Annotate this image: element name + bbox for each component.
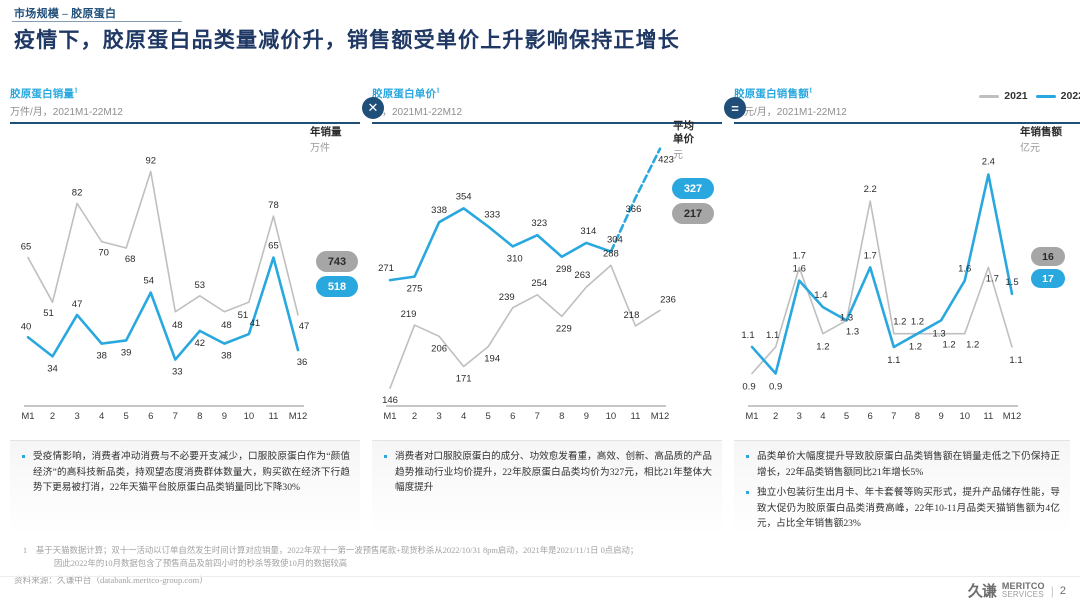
footnote-text: 基于天猫数据计算；双十一活动以订单自然发生时间计算对应销量，2022年双十一第一… — [36, 545, 974, 558]
data-label: 275 — [407, 284, 423, 295]
x-axis-tick-label: 9 — [584, 411, 589, 422]
x-axis-tick-label: 10 — [244, 411, 255, 422]
data-label: 236 — [660, 294, 676, 305]
x-axis-tick-label: 4 — [461, 411, 466, 422]
avg-2022-badge: 327 — [672, 178, 714, 199]
x-axis-tick-label: 4 — [820, 411, 825, 422]
data-label: 1.1 — [766, 330, 779, 341]
data-label: 194 — [484, 354, 500, 365]
x-axis-tick-label: 11 — [983, 411, 993, 422]
data-label: 1.2 — [911, 317, 924, 328]
footnote-text-continued: 因此2022年的10月数据包含了预售商品及前四小时的秒杀等致使10月的数据较高 — [14, 558, 974, 571]
data-label: 1.7 — [793, 250, 806, 261]
panel-title-text: 胶原蛋白销售额 — [734, 89, 809, 100]
data-label: 254 — [531, 278, 547, 289]
data-label: 298 — [556, 264, 572, 275]
data-label: 1.3 — [932, 328, 945, 339]
data-label: 1.2 — [942, 340, 955, 351]
line-chart-svg: 1462192061711942392542292632882182362712… — [372, 116, 722, 416]
data-label: 36 — [297, 357, 308, 368]
legend-label-2022: 2022 — [1061, 90, 1080, 102]
data-label: 0.9 — [742, 381, 755, 392]
panel-title: 胶原蛋白销量1 — [10, 86, 360, 101]
total-2021-badge: 16 — [1031, 247, 1065, 266]
data-label: 1.2 — [816, 342, 829, 353]
x-axis-tick-label: 7 — [891, 411, 896, 422]
list-item: 品类单价大幅度提升导致胶原蛋白品类销售额在销量走低之下仍保持正增长，22年品类销… — [746, 449, 1060, 480]
footer-divider — [0, 576, 1080, 577]
data-label: 51 — [43, 308, 54, 319]
footnote-ref: 1 — [74, 87, 78, 95]
panel-sales-volume: 胶原蛋白销量1 万件/月，2021M1-22M12 65518270689248… — [10, 86, 360, 426]
brand-tagline: SERVICES — [1002, 591, 1045, 599]
footnote-ref: 1 — [809, 87, 813, 95]
panel-sales-value: 胶原蛋白销售额1 亿元/月，2021M1-22M12 2021 2022 0.9… — [734, 86, 1080, 426]
footer-brand: 久谦 MERITCO SERVICES | 2 — [968, 580, 1066, 601]
breadcrumb: 市场规模 – 胶原蛋白 — [14, 5, 116, 21]
summary-caption-unit: 万件 — [310, 139, 342, 154]
x-axis-tick-label: 2 — [773, 411, 778, 422]
x-axis-tick-label: 8 — [559, 411, 564, 422]
data-label: 38 — [221, 351, 232, 362]
x-axis-tick-label: 9 — [938, 411, 943, 422]
data-label: 82 — [72, 187, 83, 198]
data-label: 1.2 — [909, 342, 922, 353]
data-label: 314 — [580, 226, 596, 237]
x-axis-tick-label: 10 — [606, 411, 617, 422]
data-label: 2.4 — [982, 157, 995, 168]
x-axis-tick-label: M1 — [21, 411, 34, 422]
notes-sales-volume: 受疫情影响，消费者冲动消费与不必要开支减少，口服胶原蛋白作为“颜值经济”的高科技… — [10, 440, 360, 535]
summary-caption-unit: 元 — [673, 146, 694, 161]
data-label: 218 — [624, 310, 640, 321]
data-label: 47 — [299, 321, 310, 332]
data-label: 65 — [268, 241, 279, 252]
data-label: 51 — [238, 310, 249, 321]
brand-wordmark: MERITCO SERVICES — [1002, 582, 1045, 599]
summary-caption-title: 年销量 — [310, 126, 342, 139]
legend-item-2021: 2021 — [979, 90, 1027, 102]
x-axis-tick-label: 5 — [124, 411, 129, 422]
total-2021-badge: 743 — [316, 251, 358, 272]
x-axis-tick-label: 11 — [269, 411, 279, 422]
summary-caption: 平均 单价 元 — [673, 120, 694, 161]
legend-item-2022: 2022 — [1036, 90, 1080, 102]
legend-label-2021: 2021 — [1004, 90, 1027, 102]
multiply-icon: ✕ — [362, 97, 384, 119]
data-label: 54 — [143, 276, 154, 287]
data-label: 1.5 — [1005, 277, 1018, 288]
x-axis-tick-label: 2 — [412, 411, 417, 422]
summary-caption: 年销售额 亿元 — [1020, 126, 1062, 154]
panel-title: 胶原蛋白单价1 — [372, 86, 722, 101]
x-axis-tick-label: 10 — [959, 411, 970, 422]
x-axis-tick-label: 2 — [50, 411, 55, 422]
panel-title-text: 胶原蛋白单价 — [372, 89, 436, 100]
data-label: 1.1 — [741, 330, 754, 341]
data-label: 206 — [431, 343, 447, 354]
panel-title-text: 胶原蛋白销量 — [10, 89, 74, 100]
data-label: 271 — [378, 263, 394, 274]
data-label: 338 — [431, 205, 447, 216]
summary-caption-title2: 单价 — [673, 133, 694, 146]
data-label: 239 — [499, 292, 515, 303]
data-label: 1.1 — [1009, 355, 1022, 366]
chart-legend: 2021 2022 — [979, 90, 1080, 102]
data-label: 68 — [125, 254, 136, 265]
data-label: 333 — [484, 210, 500, 221]
data-label: 1.3 — [840, 312, 853, 323]
data-label: 171 — [456, 374, 472, 385]
data-label: 47 — [72, 299, 83, 310]
x-axis-tick-label: 7 — [173, 411, 178, 422]
data-label: 1.2 — [966, 340, 979, 351]
x-axis-tick-label: M1 — [745, 411, 758, 422]
x-axis-tick-label: 3 — [74, 411, 79, 422]
data-label: 229 — [556, 323, 572, 334]
data-label: 34 — [47, 363, 58, 374]
footer-separator: | — [1051, 584, 1054, 598]
list-item: 受疫情影响，消费者冲动消费与不必要开支减少，口服胶原蛋白作为“颜值经济”的高科技… — [22, 449, 350, 496]
x-axis-tick-label: 3 — [797, 411, 802, 422]
legend-swatch-2021 — [979, 95, 999, 98]
total-2022-badge: 17 — [1031, 269, 1065, 288]
footnote-number: 1 — [14, 545, 36, 558]
data-label: 323 — [531, 218, 547, 229]
slide: 市场规模 – 胶原蛋白 疫情下，胶原蛋白品类量减价升，销售额受单价上升影响保持正… — [0, 0, 1080, 607]
page-title: 疫情下，胶原蛋白品类量减价升，销售额受单价上升影响保持正增长 — [14, 24, 680, 54]
notes-unit-price: 消费者对口服胶原蛋白的成分、功效愈发看重，高效、创新、高品质的产品趋势推动行业均… — [372, 440, 722, 535]
footnotes: 1 基于天猫数据计算；双十一活动以订单自然发生时间计算对应销量，2022年双十一… — [14, 545, 974, 586]
x-axis-tick-label: 6 — [148, 411, 153, 422]
x-axis-tick-label: M12 — [1003, 411, 1021, 422]
data-label: 1.7 — [864, 250, 877, 261]
data-label: 48 — [221, 320, 232, 331]
legend-swatch-2022 — [1036, 95, 1056, 98]
data-label: 354 — [456, 191, 472, 202]
data-label: 2.2 — [864, 184, 877, 195]
data-label: 33 — [172, 367, 183, 378]
page-number: 2 — [1060, 585, 1066, 597]
bullet-list: 消费者对口服胶原蛋白的成分、功效愈发看重，高效、创新、高品质的产品趋势推动行业均… — [372, 441, 722, 496]
data-label: 92 — [145, 156, 156, 167]
footnote-ref: 1 — [436, 87, 440, 95]
data-label: 40 — [21, 321, 32, 332]
data-label: 1.3 — [846, 326, 859, 337]
summary-caption-title: 年销售额 — [1020, 126, 1062, 139]
data-label: 1.6 — [958, 264, 971, 275]
data-label: 53 — [195, 280, 206, 291]
data-label: 310 — [507, 253, 523, 264]
list-item: 独立小包装衍生出月卡、年卡套餐等购买形式，提升产品储存性能，导致大促仍为胶原蛋白… — [746, 485, 1060, 532]
data-label: 423 — [658, 155, 674, 166]
data-label: 39 — [121, 347, 132, 358]
chart-sales-value: 0.91.11.71.21.32.21.21.21.21.21.71.11.10… — [734, 116, 1080, 416]
x-axis-tick-label: 11 — [631, 411, 641, 422]
line-chart-svg: 0.91.11.71.21.32.21.21.21.21.21.71.11.10… — [734, 116, 1070, 416]
x-axis-tick-label: 5 — [486, 411, 491, 422]
x-axis-tick-label: 9 — [222, 411, 227, 422]
data-label: 0.9 — [769, 381, 782, 392]
x-axis-tick-label: M1 — [383, 411, 396, 422]
summary-caption-title: 平均 — [673, 120, 694, 133]
data-label: 1.7 — [986, 273, 999, 284]
summary-caption-unit: 亿元 — [1020, 139, 1062, 154]
x-axis-tick-label: M12 — [651, 411, 669, 422]
data-label: 70 — [98, 248, 109, 259]
notes-sales-value: 品类单价大幅度提升导致胶原蛋白品类销售额在销量走低之下仍保持正增长，22年品类销… — [734, 440, 1070, 535]
data-label: 1.2 — [893, 317, 906, 328]
x-axis-tick-label: M12 — [289, 411, 307, 422]
data-label: 41 — [250, 318, 261, 329]
x-axis-tick-label: 8 — [197, 411, 202, 422]
data-label: 38 — [96, 351, 107, 362]
line-chart-svg: 6551827068924853485178474034473839543342… — [10, 116, 360, 416]
total-2022-badge: 518 — [316, 276, 358, 297]
panel-unit-price: 胶原蛋白单价1 元，2021M1-22M12 14621920617119423… — [372, 86, 722, 426]
data-label: 288 — [603, 248, 619, 259]
x-axis-tick-label: 5 — [844, 411, 849, 422]
x-axis-tick-label: 8 — [915, 411, 920, 422]
data-label: 1.6 — [793, 264, 806, 275]
data-label: 263 — [574, 270, 590, 281]
footnote-row: 1 基于天猫数据计算；双十一活动以订单自然发生时间计算对应销量，2022年双十一… — [14, 545, 974, 558]
brand-logo-cjk: 久谦 — [968, 580, 996, 601]
x-axis-tick-label: 4 — [99, 411, 104, 422]
list-item: 消费者对口服胶原蛋白的成分、功效愈发看重，高效、创新、高品质的产品趋势推动行业均… — [384, 449, 712, 496]
data-label: 78 — [268, 200, 279, 211]
data-label: 1.4 — [814, 290, 827, 301]
summary-caption: 年销量 万件 — [310, 126, 342, 154]
bullet-list: 品类单价大幅度提升导致胶原蛋白品类销售额在销量走低之下仍保持正增长，22年品类销… — [734, 441, 1070, 532]
x-axis-tick-label: 6 — [868, 411, 873, 422]
data-label: 304 — [607, 235, 623, 246]
data-label: 1.1 — [887, 355, 900, 366]
chart-unit-price: 1462192061711942392542292632882182362712… — [372, 116, 722, 416]
data-label: 146 — [382, 395, 398, 406]
equals-icon: = — [724, 97, 746, 119]
avg-2021-badge: 217 — [672, 203, 714, 224]
header-divider — [12, 21, 182, 22]
data-label: 366 — [626, 204, 642, 215]
x-axis-tick-label: 3 — [436, 411, 441, 422]
bullet-list: 受疫情影响，消费者冲动消费与不必要开支减少，口服胶原蛋白作为“颜值经济”的高科技… — [10, 441, 360, 496]
data-label: 42 — [195, 338, 206, 349]
data-label: 65 — [21, 242, 32, 253]
data-label: 219 — [401, 309, 417, 320]
data-label: 48 — [172, 320, 183, 331]
x-axis-tick-label: 7 — [535, 411, 540, 422]
x-axis-tick-label: 6 — [510, 411, 515, 422]
chart-sales-volume: 6551827068924853485178474034473839543342… — [10, 116, 360, 416]
